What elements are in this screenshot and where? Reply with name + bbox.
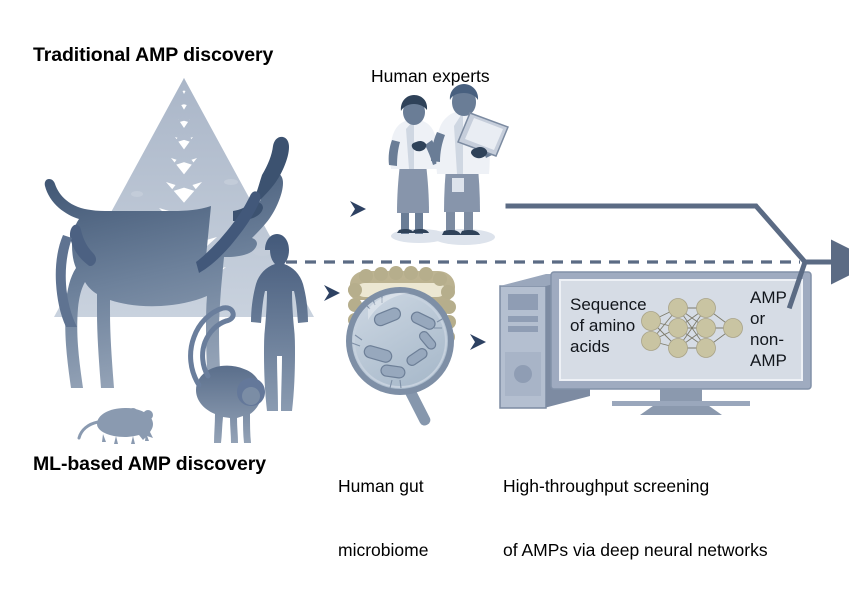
- screen-input-line3: acids: [570, 337, 610, 356]
- high-throughput-screening-caption: High-throughput screening of AMPs via de…: [503, 433, 768, 604]
- experts-connector-line: [508, 206, 805, 262]
- amp-discovery-figure: Sequence of amino acids AMP or non- AMP …: [0, 0, 849, 522]
- monkey-icon: [191, 308, 265, 443]
- ml-based-panel-title: ML-based AMP discovery: [33, 453, 266, 477]
- mouse-icon: [79, 408, 153, 444]
- arrow-to-computer-icon: [470, 334, 486, 350]
- scientist-pair-icon: [389, 84, 508, 245]
- screening-caption-line2: of AMPs via deep neural networks: [503, 540, 768, 561]
- screening-caption-line1: High-throughput screening: [503, 476, 768, 497]
- scientist-right: [431, 84, 508, 235]
- scientist-left: [389, 95, 441, 234]
- screen-output-line2: or: [750, 309, 765, 328]
- screen-output-line4: AMP: [750, 351, 787, 370]
- gut-caption-line1: Human gut: [338, 476, 428, 497]
- screen-output-line3: non-: [750, 330, 784, 349]
- screen-output-line1: AMP: [750, 288, 787, 307]
- human-experts-label: Human experts: [371, 66, 490, 87]
- arrow-to-gut-icon: [324, 285, 340, 301]
- human-gut-microbiome-caption: Human gut microbiome: [338, 433, 428, 604]
- screen-input-line2: of amino: [570, 316, 635, 335]
- screen-input-line1: Sequence: [570, 295, 647, 314]
- magnifying-glass-icon: [349, 290, 451, 427]
- gut-caption-line2: microbiome: [338, 540, 428, 561]
- traditional-panel-title: Traditional AMP discovery: [33, 44, 273, 68]
- arrow-to-experts-icon: [350, 201, 366, 217]
